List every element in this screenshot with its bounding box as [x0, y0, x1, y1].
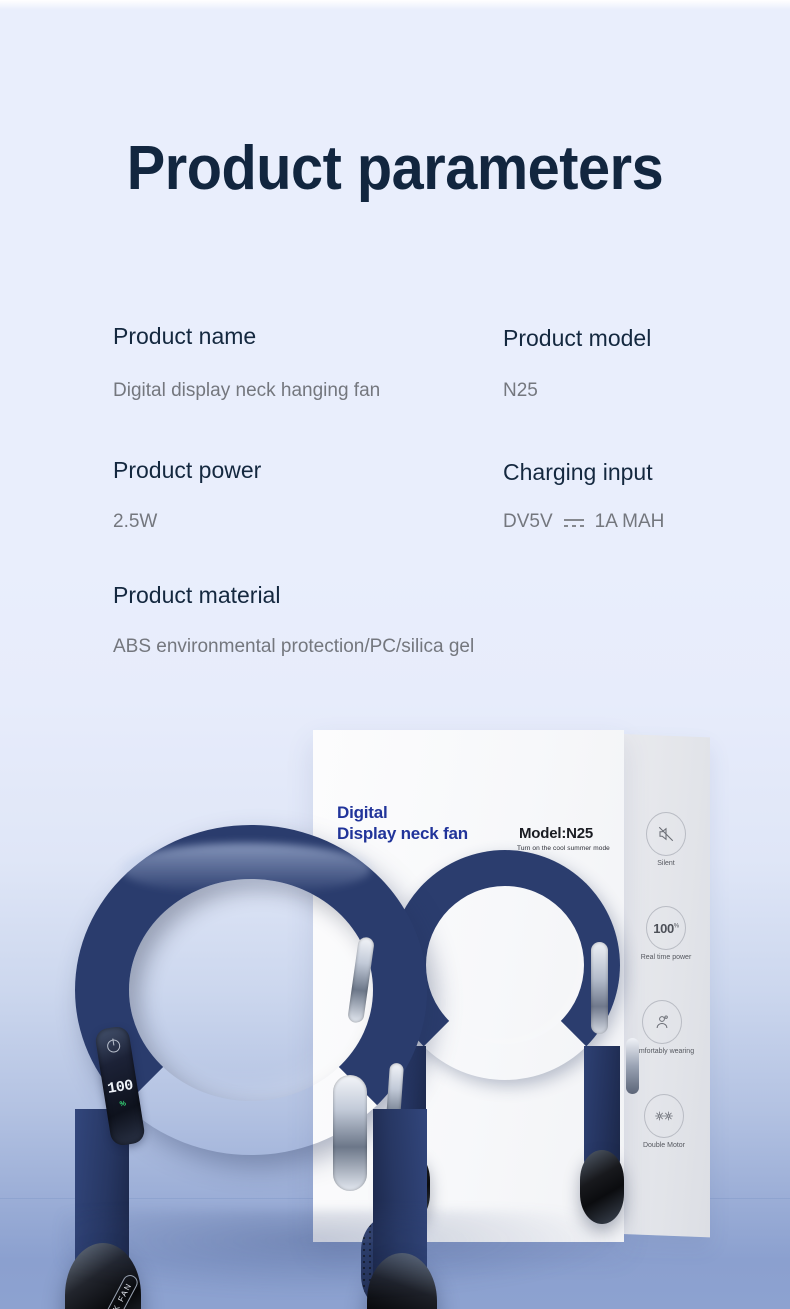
charging-current: 1A MAH [595, 510, 665, 534]
spec-label-charging-input: Charging input [503, 458, 653, 486]
spec-value-charging-input: DV5V 1A MAH [503, 510, 664, 534]
fan-highlight [121, 843, 371, 895]
spec-value-product-material: ABS environmental protection/PC/silica g… [113, 635, 474, 659]
fan-air-vent [591, 942, 608, 1034]
page-title: Product parameters [28, 133, 763, 205]
fan-chrome-slot [333, 1075, 367, 1191]
spec-label-product-name: Product name [113, 322, 256, 350]
spec-label-product-model: Product model [503, 324, 651, 352]
feature-percent-value: 100 [653, 921, 674, 936]
power-button-icon[interactable] [106, 1039, 121, 1054]
product-parameters-page: Product parameters Product name Digital … [0, 0, 790, 1309]
spec-value-product-name: Digital display neck hanging fan [113, 379, 380, 403]
double-fan-icon [644, 1094, 684, 1138]
feature-percent-unit: % [674, 923, 679, 929]
charging-voltage: DV5V [503, 510, 553, 534]
battery-percent-icon: 100% [646, 906, 686, 950]
dc-power-symbol-icon [564, 517, 584, 529]
spec-value-product-model: N25 [503, 379, 538, 403]
spec-value-product-power: 2.5W [113, 510, 157, 534]
fan-chrome-strip [626, 1038, 639, 1094]
speaker-mute-icon [646, 812, 686, 856]
spec-label-product-material: Product material [113, 581, 280, 609]
battery-percent-value: 100 [106, 1077, 134, 1098]
battery-percent-unit: % [119, 1100, 126, 1108]
product-floor-shadow [60, 1210, 620, 1296]
spec-label-product-power: Product power [113, 456, 261, 484]
product-box-title-line1: Digital [337, 802, 468, 823]
product-box-model: Model:N25 [519, 825, 593, 842]
product-photo: Digital Display neck fan Model:N25 Turn … [0, 690, 790, 1309]
